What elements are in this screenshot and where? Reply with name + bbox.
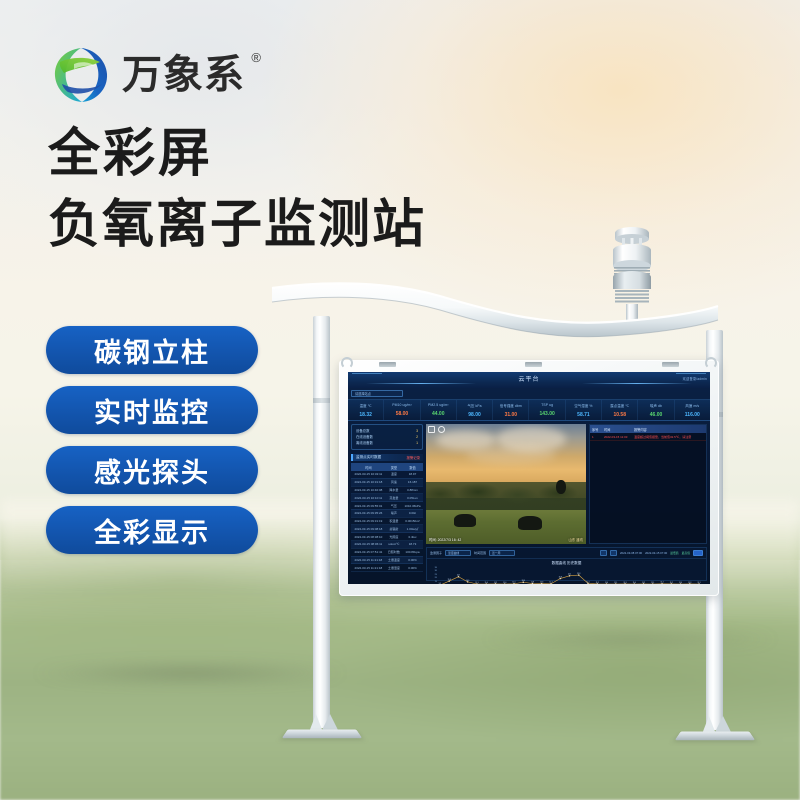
metric-value: 98.00: [457, 412, 492, 418]
metric-strip: 温度 ℃ 18.32 PM10 ug/m³ 58.00 PM2.5 ug/m³ …: [348, 399, 710, 421]
metric-tsp: TSP ug 143.00: [529, 400, 565, 420]
metric-value: 46.00: [638, 412, 673, 418]
svg-text:11.1: 11.1: [614, 582, 617, 584]
cell-time: 2022-03-15 09:35:26: [351, 509, 386, 517]
alarm-records-link[interactable]: 报警记录: [406, 455, 420, 460]
svg-text:22.7: 22.7: [457, 575, 460, 577]
cell-type: solco/℃: [386, 541, 402, 549]
mount-tab-1: [379, 362, 396, 367]
table-row[interactable]: 2022-03-15 10:10:11蒸发量0.05Lux: [351, 494, 423, 502]
cell-type: 日照时数: [386, 548, 402, 556]
table-row[interactable]: 2022-03-15 10:32:11温度18.97: [351, 471, 423, 478]
alarm-content: 温度超过阈值报警，当前值32.5℃，请注意: [634, 435, 704, 439]
list-view-icon[interactable]: [600, 550, 607, 556]
alarm-row[interactable]: 1 2022-03-15 11:03 温度超过阈值报警，当前值32.5℃，请注意: [590, 433, 706, 441]
cell-type: 总辐射: [386, 525, 402, 533]
cell-value: 16.187: [402, 478, 423, 486]
metric-value: 58.00: [384, 411, 419, 417]
stat-label: 离线设备数: [356, 440, 373, 446]
range-select[interactable]: 近一周: [489, 550, 515, 556]
metric-value: 18.32: [348, 412, 383, 418]
monitoring-station: 云平台 欢迎登录/admin 请选择站点 温度 ℃ 18.32 PM10 ug/…: [0, 0, 800, 800]
metric-label: PM2.5 ug/m³: [421, 403, 456, 407]
table-row[interactable]: 2022-03-15 10:40:08降水量0.88mm: [351, 486, 423, 494]
cell-value: 18.97: [402, 471, 423, 478]
range-label: 时间范围: [474, 551, 486, 555]
table-row[interactable]: 2022-03-15 08:38:10光照度0.4lux: [351, 533, 423, 541]
led-screen: 云平台 欢迎登录/admin 请选择站点 温度 ℃ 18.32 PM10 ug/…: [348, 372, 710, 584]
svg-text:11.3: 11.3: [623, 582, 626, 584]
svg-text:11.0: 11.0: [633, 582, 636, 584]
alarm-col-content: 报警内容: [634, 427, 704, 432]
video-location-label: 山东 潍坊: [568, 537, 583, 542]
svg-text:11.5: 11.5: [512, 582, 515, 584]
metric-label: 空气湿度 %: [566, 403, 601, 408]
metric-value: 143.00: [529, 411, 564, 417]
metric-label: 风速 m/s: [675, 403, 710, 408]
video-cow-2: [518, 516, 542, 530]
svg-text:11.4: 11.4: [660, 582, 663, 584]
cell-time: 2022-03-15 10:10:11: [351, 494, 386, 502]
svg-text:11.0: 11.0: [503, 582, 506, 584]
cell-time: 2022-03-15 10:31:18: [351, 478, 386, 486]
cell-time: 2022-03-15 09:08:18: [351, 525, 386, 533]
table-row[interactable]: 2022-03-15 09:31:19积温量0.00150uV: [351, 517, 423, 525]
table-row[interactable]: 2022-03-15 11:21:18土壤湿度0.00%: [351, 564, 423, 572]
chart-y-axis: 35302520151050: [427, 567, 437, 584]
table-row[interactable]: 2022-03-15 11:21:18土壤温度0.00%: [351, 556, 423, 564]
svg-text:11.2: 11.2: [642, 582, 645, 584]
product-marketing-scene: 万象系 ® 全彩屏 负氧离子监测站 碳钢立柱 实时监控 感光探头 全彩显示: [0, 0, 800, 800]
y-tick-label: 15: [435, 581, 437, 583]
screen-header: 云平台 欢迎登录/admin: [348, 372, 710, 388]
y-tick-label: 30: [435, 570, 437, 572]
svg-text:11.2: 11.2: [670, 582, 673, 584]
alarm-col-no: 序号: [592, 427, 604, 432]
svg-text:11.3: 11.3: [688, 582, 691, 584]
svg-text:15.8: 15.8: [448, 579, 451, 581]
cell-type: 风速: [386, 478, 402, 486]
legend-min: 最低值: [670, 551, 678, 555]
cell-time: 2022-03-15 09:31:19: [351, 517, 386, 525]
realtime-data-table: 时间 类型 数值 2022-03-15 10:32:11温度18.972022-…: [351, 463, 423, 572]
cell-time: 2022-03-15 10:40:08: [351, 486, 386, 494]
cell-type: 土壤湿度: [386, 564, 402, 572]
svg-text:9.2: 9.2: [439, 583, 441, 584]
alarm-time: 2022-03-15 11:03: [604, 435, 634, 439]
chart-line-series: 9.215.822.714.511.111.011.211.011.513.91…: [437, 567, 702, 584]
svg-text:11.2: 11.2: [494, 582, 497, 584]
alarm-panel: 序号 时间 报警内容 1 2022-03-15 11:03 温度超过阈值报警，当…: [589, 424, 707, 544]
svg-text:11.0: 11.0: [679, 582, 682, 584]
cell-value: 0.00150uV: [402, 517, 423, 525]
metric-pressure: 气压 kPa 98.00: [457, 400, 493, 420]
mount-hook-right: [705, 357, 717, 369]
table-row[interactable]: 2022-03-15 08:06:11solco/℃18.73: [351, 541, 423, 549]
mount-tab-2: [525, 362, 542, 367]
metric-value: 31.00: [493, 412, 528, 418]
svg-text:12.1: 12.1: [586, 581, 589, 583]
cell-value: 0.00%: [402, 556, 423, 564]
cell-value: 1.00w/㎡: [402, 525, 423, 533]
data-panel-header: 监测点实时数据 报警记录: [351, 454, 423, 461]
cell-value: 100.89Lpa: [402, 548, 423, 556]
history-chart-panel: 监测因子 温度曲线 时间范围 近一周 2022-03-08 07:00 2022…: [426, 547, 707, 581]
metric-pm10: PM10 ug/m³ 58.00: [384, 400, 420, 420]
metric-value: 10.58: [602, 412, 637, 418]
chart-title: 数据曲线 历史数据: [427, 559, 706, 566]
s-curve-canopy-icon: [270, 278, 720, 342]
metric-dew-point: 露点温度 ℃ 10.58: [602, 400, 638, 420]
table-row[interactable]: 2022-03-15 09:35:26噪声0.00c: [351, 509, 423, 517]
cell-value: 0.05Lux: [402, 494, 423, 502]
metric-label: 气压 kPa: [457, 403, 492, 408]
video-timestamp: 时间: 2022/7/3 16: 42: [429, 537, 461, 542]
stat-row: 离线设备数 1: [356, 440, 418, 446]
svg-text:14.5: 14.5: [466, 580, 469, 582]
legend-max: 最高值: [682, 551, 690, 555]
mount-tab-3: [662, 362, 679, 367]
screen-user-label: 欢迎登录/admin: [683, 376, 707, 381]
metric-temperature: 温度 ℃ 18.32: [348, 400, 384, 420]
table-row[interactable]: 2022-03-15 09:55:01气压1010.36kPa: [351, 502, 423, 510]
metric-label: 噪声 db: [638, 403, 673, 408]
table-header-row: 时间 类型 数值: [351, 463, 423, 471]
svg-text:11.2: 11.2: [596, 582, 599, 584]
svg-text:24.1: 24.1: [568, 574, 571, 576]
flange-base-plate-left: [285, 712, 359, 740]
camera-video-feed[interactable]: 时间: 2022/7/3 16: 42 山东 潍坊: [426, 424, 586, 544]
cell-time: 2022-03-15 10:32:11: [351, 471, 386, 478]
expand-icon[interactable]: [428, 426, 435, 433]
cell-time: 2022-03-15 11:21:18: [351, 564, 386, 572]
cell-value: 0.88mm: [402, 486, 423, 494]
metric-label: 温度 ℃: [348, 403, 383, 408]
cell-value: 0.00c: [402, 509, 423, 517]
metric-value: 116.00: [675, 412, 710, 418]
alarm-header-row: 序号 时间 报警内容: [590, 425, 706, 433]
cell-type: 温度: [386, 471, 402, 478]
snapshot-icon[interactable]: [438, 426, 445, 433]
y-tick-label: 35: [435, 567, 437, 569]
svg-text:11.1: 11.1: [475, 582, 478, 584]
led-display-bezel: 云平台 欢迎登录/admin 请选择站点 温度 ℃ 18.32 PM10 ug/…: [339, 360, 719, 596]
cell-value: 0.00%: [402, 564, 423, 572]
chart-view-icon[interactable]: [610, 550, 617, 556]
metric-pm25: PM2.5 ug/m³ 44.00: [421, 400, 457, 420]
metric-value: 44.00: [421, 411, 456, 417]
svg-text:19.8: 19.8: [559, 576, 562, 578]
metric-signal-strength: 信号强度 dbm 31.00: [493, 400, 529, 420]
metric-value: 58.71: [566, 412, 601, 418]
stat-value: 1: [416, 440, 418, 446]
metric-noise: 噪声 db 46.00: [638, 400, 674, 420]
metric-label: TSP ug: [529, 403, 564, 407]
col-time: 时间: [351, 463, 386, 471]
cell-type: 光照度: [386, 533, 402, 541]
svg-text:11.0: 11.0: [485, 582, 488, 584]
metric-humidity: 空气湿度 % 58.71: [566, 400, 602, 420]
factor-select[interactable]: 温度曲线: [445, 550, 471, 556]
cell-time: 2022-03-15 07:51:41: [351, 548, 386, 556]
flange-base-plate-right: [678, 714, 752, 742]
video-cow-1: [454, 514, 476, 527]
col-value: 数值: [402, 463, 423, 471]
cell-time: 2022-03-15 11:21:18: [351, 556, 386, 564]
table-row[interactable]: 2022-03-15 07:51:41日照时数100.89Lpa: [351, 548, 423, 556]
cell-type: 噪声: [386, 509, 402, 517]
svg-text:13.9: 13.9: [522, 580, 525, 582]
video-tree-silhouette: [556, 480, 566, 494]
table-row[interactable]: 2022-03-15 09:08:18总辐射1.00w/㎡: [351, 525, 423, 533]
cell-time: 2022-03-15 08:06:11: [351, 541, 386, 549]
svg-text:11.8: 11.8: [531, 581, 534, 583]
mount-hook-left: [341, 357, 353, 369]
cell-value: 0.4lux: [402, 533, 423, 541]
svg-text:11.6: 11.6: [540, 582, 543, 584]
cell-type: 气压: [386, 502, 402, 510]
site-select-dropdown[interactable]: 请选择站点: [351, 390, 403, 397]
alarm-col-time: 时间: [604, 427, 634, 432]
alarm-no: 1: [592, 435, 604, 439]
cell-value: 18.73: [402, 541, 423, 549]
chart-plot-area: 35302520151050 9.215.822.714.511.111.011…: [437, 567, 702, 584]
metric-wind-speed: 风速 m/s 116.00: [675, 400, 710, 420]
video-overlay-controls[interactable]: [428, 426, 445, 433]
device-stats-box: 设备总数 3 在线设备数 2 离线设备数 1: [351, 424, 423, 450]
table-row[interactable]: 2022-03-15 10:31:18风速16.187: [351, 478, 423, 486]
svg-text:11.1: 11.1: [651, 582, 654, 584]
factor-label: 监测因子: [430, 551, 442, 555]
svg-text:11.4: 11.4: [549, 582, 552, 584]
cell-time: 2022-03-15 08:38:10: [351, 533, 386, 541]
metric-label: PM10 ug/m³: [384, 403, 419, 407]
svg-text:11.0: 11.0: [605, 582, 608, 584]
screen-title: 云平台: [348, 374, 710, 383]
svg-text:11.1: 11.1: [698, 582, 701, 584]
cell-time: 2022-03-15 09:55:01: [351, 502, 386, 510]
query-button[interactable]: [693, 550, 703, 556]
metric-label: 露点温度 ℃: [602, 403, 637, 408]
cell-type: 积温量: [386, 517, 402, 525]
y-tick-label: 25: [435, 574, 437, 576]
chart-toolbar: 监测因子 温度曲线 时间范围 近一周 2022-03-08 07:00 2022…: [427, 548, 706, 559]
metric-label: 信号强度 dbm: [493, 403, 528, 408]
data-panel-title: 监测点实时数据: [356, 455, 381, 460]
cell-type: 降水量: [386, 486, 402, 494]
date-end[interactable]: 2022-03-15 07:00: [645, 551, 667, 555]
cell-type: 蒸发量: [386, 494, 402, 502]
y-tick-label: 20: [435, 577, 437, 579]
date-start[interactable]: 2022-03-08 07:00: [620, 551, 642, 555]
left-post: [313, 316, 330, 728]
left-post-seam: [313, 398, 330, 403]
col-type: 类型: [386, 463, 402, 471]
screen-left-column: 设备总数 3 在线设备数 2 离线设备数 1 监测点实时数据: [351, 424, 423, 580]
svg-text:25.3: 25.3: [577, 573, 580, 575]
cell-type: 土壤温度: [386, 556, 402, 564]
cell-value: 1010.36kPa: [402, 502, 423, 510]
